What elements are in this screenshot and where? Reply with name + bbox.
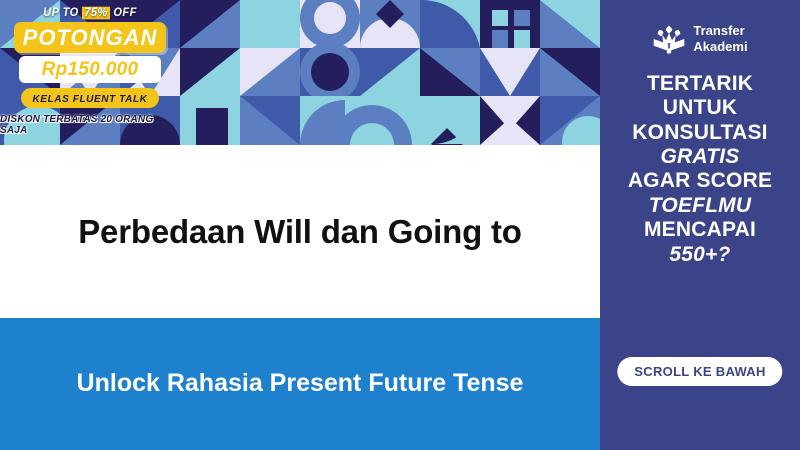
promo-badge: UP TO 75% OFF POTONGAN Rp150.000 KELAS F… — [0, 0, 180, 140]
scroll-down-label: SCROLL KE BAWAH — [634, 364, 765, 379]
pitch-line-7: MENCAPAI — [606, 218, 794, 242]
main-column: UP TO 75% OFF POTONGAN Rp150.000 KELAS F… — [0, 0, 600, 450]
pitch-line-3: KONSULTASI — [606, 121, 794, 145]
promo-footnote: DISKON TERBATAS 20 ORANG SAJA — [0, 114, 180, 136]
brand-logo[interactable]: Transfer Akademi — [652, 14, 747, 64]
promo-upto-suffix: OFF — [110, 7, 137, 20]
sidebar-pitch: TERTARIK UNTUK KONSULTASI GRATIS AGAR SC… — [600, 72, 800, 267]
promo-page: UP TO 75% OFF POTONGAN Rp150.000 KELAS F… — [0, 0, 800, 450]
geometric-pattern-banner: UP TO 75% OFF POTONGAN Rp150.000 KELAS F… — [0, 0, 600, 145]
pitch-line-2: UNTUK — [606, 96, 794, 120]
brand-line-1: Transfer — [693, 23, 747, 39]
title-area: Perbedaan Will dan Going to — [0, 145, 600, 318]
promo-amount-box: Rp150.000 — [19, 56, 161, 83]
promo-amount-text: Rp150.000 — [42, 59, 139, 81]
page-title: Perbedaan Will dan Going to — [78, 210, 522, 254]
promo-class-label: KELAS FLUENT TALK — [32, 94, 147, 105]
pitch-line-6: TOEFLMU — [606, 194, 794, 218]
promo-discount-percent: 75% — [82, 7, 110, 20]
promo-upto-prefix: UP TO — [43, 7, 82, 20]
promo-class-pill: KELAS FLUENT TALK — [21, 88, 158, 108]
pitch-line-1: TERTARIK — [606, 72, 794, 96]
pitch-line-4: GRATIS — [606, 145, 794, 169]
scroll-down-button[interactable]: SCROLL KE BAWAH — [617, 357, 782, 386]
promo-upto-label: UP TO 75% OFF — [43, 7, 137, 20]
sidebar: Transfer Akademi TERTARIK UNTUK KONSULTA… — [600, 0, 800, 450]
brand-line-2: Akademi — [693, 39, 747, 55]
subtitle-banner: Unlock Rahasia Present Future Tense — [0, 318, 600, 450]
promo-headline-text: POTONGAN — [23, 25, 158, 51]
open-book-icon — [652, 22, 686, 56]
pitch-line-5: AGAR SCORE — [606, 169, 794, 193]
pitch-line-8: 550+? — [606, 243, 794, 267]
promo-headline-badge: POTONGAN — [14, 22, 166, 53]
brand-name: Transfer Akademi — [693, 23, 747, 55]
page-subtitle: Unlock Rahasia Present Future Tense — [77, 366, 524, 402]
